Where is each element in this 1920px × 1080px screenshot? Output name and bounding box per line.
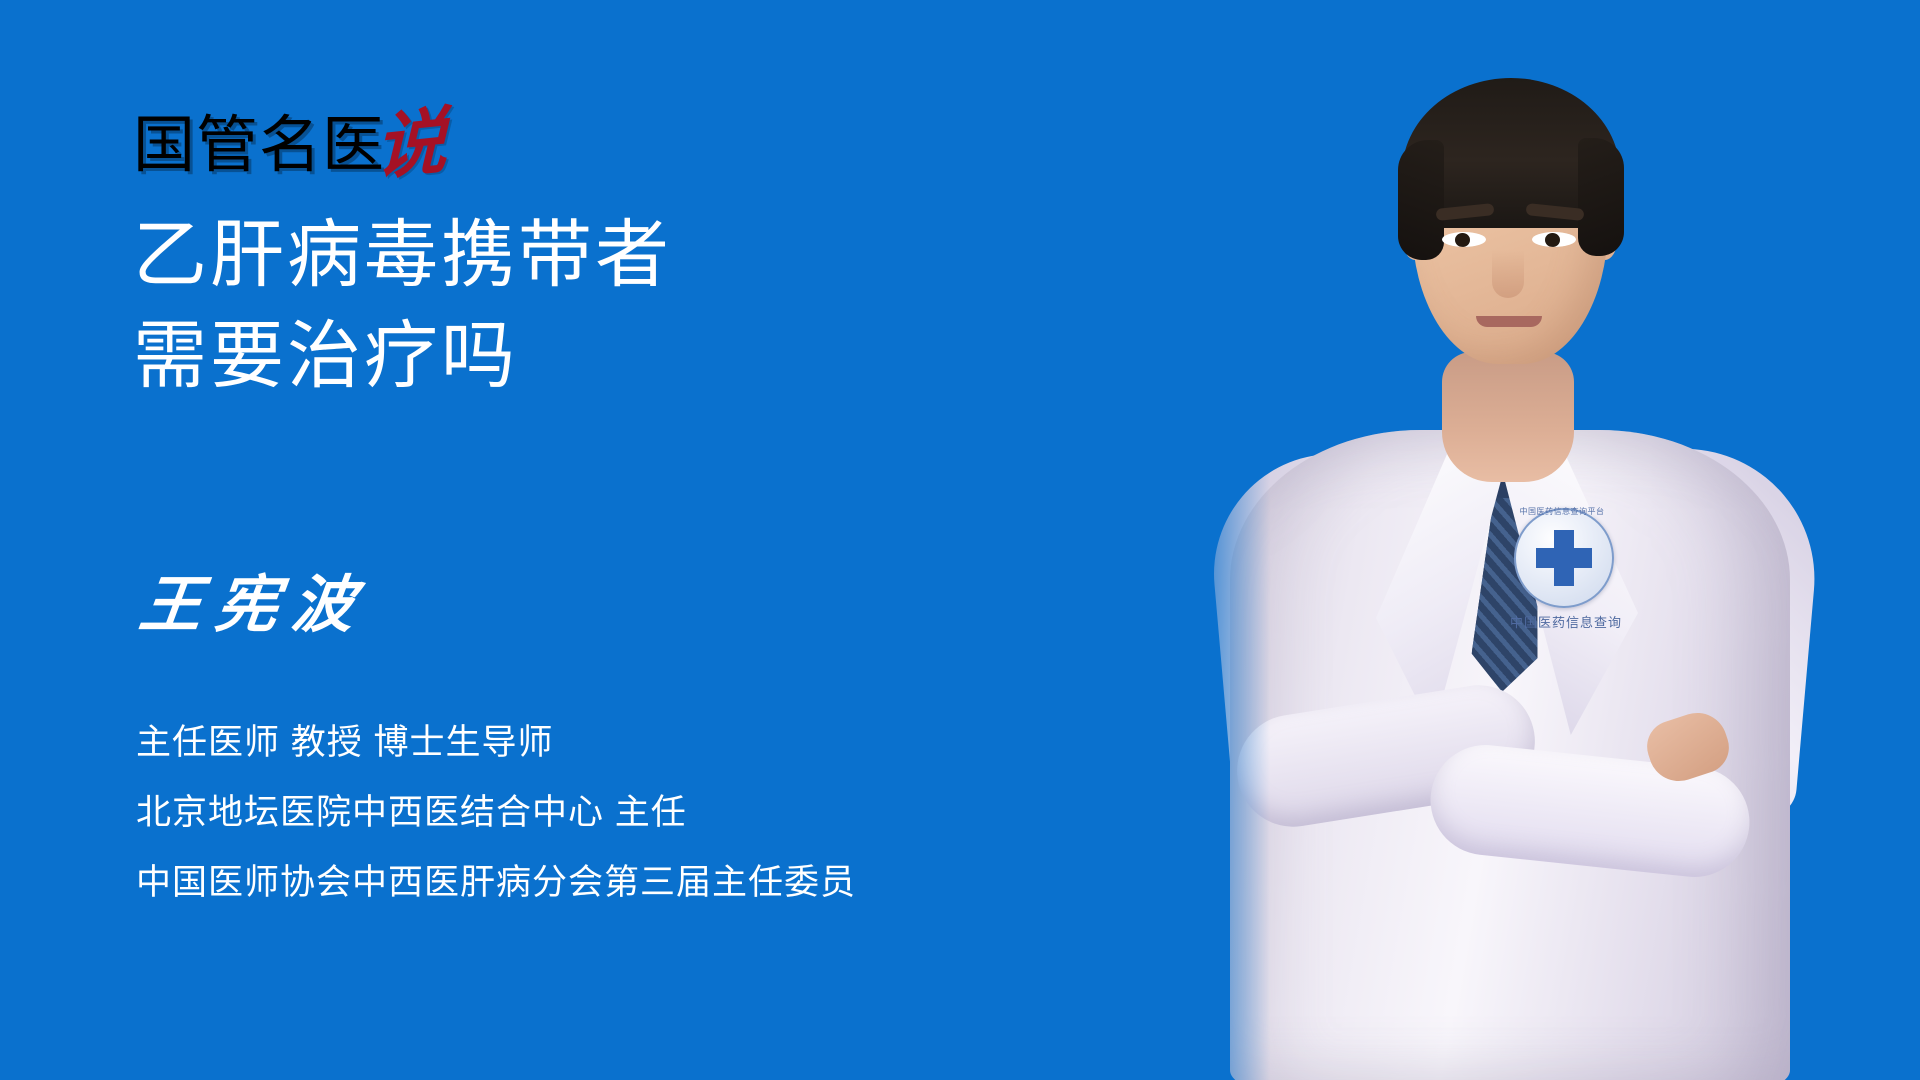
credential-line-1: 主任医师 教授 博士生导师 <box>136 725 1136 760</box>
doctor-credentials: 主任医师 教授 博士生导师 北京地坛医院中西医结合中心 主任 中国医师协会中西医… <box>136 725 1136 900</box>
emblem-ring-text: 中国医药信息查询平台 <box>1514 506 1610 517</box>
hair-side-right <box>1578 138 1624 256</box>
hair-side-left <box>1398 140 1444 260</box>
emblem-caption: 中国医药信息查询 <box>1476 612 1656 631</box>
neck <box>1442 352 1574 482</box>
brand-logo-accent-text: 说 <box>375 107 447 183</box>
medical-emblem-icon <box>1514 508 1614 608</box>
mouth <box>1476 316 1542 327</box>
headline: 乙肝病毒携带者 需要治疗吗 <box>133 205 1033 406</box>
pupil-right <box>1545 233 1560 247</box>
cross-horizontal-bar <box>1536 548 1592 568</box>
headline-line-1: 乙肝病毒携带者 <box>133 205 1033 306</box>
credential-line-3: 中国医师协会中西医肝病分会第三届主任委员 <box>136 865 1136 900</box>
promo-card: 中国医药信息查询平台 中国医药信息查询 国管名医 说 乙肝病毒携带者 需要治疗吗… <box>0 0 1920 1080</box>
eye-left <box>1442 232 1486 247</box>
doctor-name: 王宪波 <box>136 575 372 637</box>
eye-right <box>1532 232 1576 247</box>
brand-logo-main-text: 国管名医 <box>133 115 385 177</box>
doctor-portrait: 中国医药信息查询平台 中国医药信息查询 <box>1180 0 1920 1080</box>
nose <box>1492 250 1524 298</box>
brand-logo: 国管名医 说 <box>133 95 447 177</box>
headline-line-2: 需要治疗吗 <box>133 306 1033 407</box>
credential-line-2: 北京地坛医院中西医结合中心 主任 <box>136 795 1136 830</box>
pupil-left <box>1455 233 1470 247</box>
